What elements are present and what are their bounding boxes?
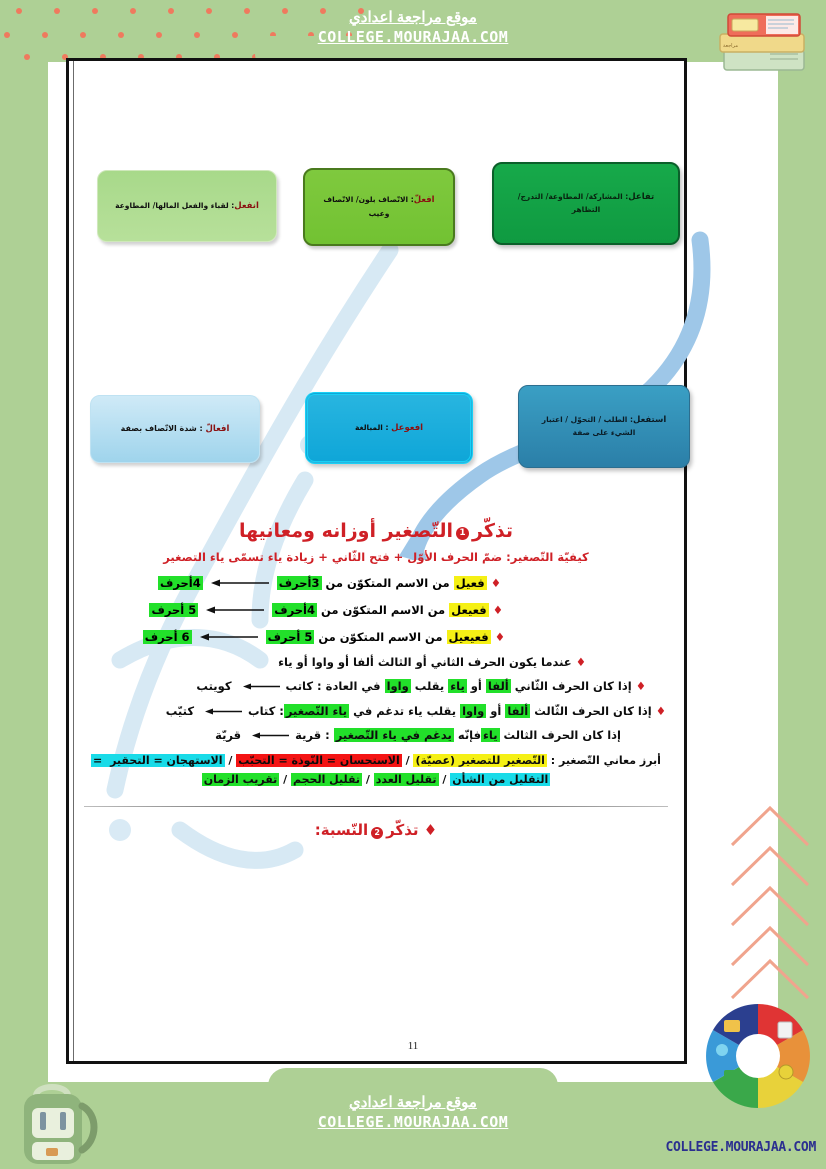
lesson-title-badge: 1 xyxy=(456,527,469,540)
next-title-prefix: تذكّر xyxy=(386,821,418,839)
weight-rule-source: ♦ فعيعل من الاسم المتكوّن من 4أحرف xyxy=(272,603,503,617)
weight-rule-source: ♦ فعيل من الاسم المتكوّن من 3أحرف xyxy=(277,576,501,590)
left-arrow-icon xyxy=(204,600,266,619)
scheme-pattern: افعوعل xyxy=(391,423,423,433)
scheme-pattern: انفعل xyxy=(234,201,259,211)
notes-list: ♦ عندما يكون الحرف الثاني أو الثالث ألفا… xyxy=(76,654,676,744)
dot xyxy=(4,32,10,38)
weight-rules-list: ♦ فعيل من الاسم المتكوّن من 3أحرف4أحرف♦ … xyxy=(76,573,676,646)
section-divider xyxy=(84,806,668,807)
dot xyxy=(80,32,86,38)
chevrons-decoration xyxy=(722,800,812,1000)
meaning-chip: التّصغير للتصغير (عصيّة) xyxy=(413,754,547,767)
scheme-box-ifaalla2: افعالّ : شدة الاتّصاف بصفة xyxy=(90,395,260,463)
footer-brand: موقع مراجعة اعدادي COLLEGE.MOURAJAA.COM xyxy=(253,1093,573,1131)
note-result: كويتب xyxy=(196,679,231,693)
footer-brand-url[interactable]: COLLEGE.MOURAJAA.COM xyxy=(253,1113,573,1131)
header-brand: موقع مراجعة اعدادي COLLEGE.MOURAJAA.COM xyxy=(253,8,573,46)
dot xyxy=(244,8,250,14)
scheme-pattern: افعالّ xyxy=(206,424,230,434)
left-arrow-icon xyxy=(198,627,260,646)
meanings-items: التّصغير للتصغير (عصيّة) / الاستحسان = ا… xyxy=(91,754,550,786)
meaning-chip: / xyxy=(402,754,414,767)
dot xyxy=(206,8,212,14)
lesson-subtitle-label: كيفيّة التّصغير: xyxy=(506,550,589,564)
scheme-meaning: : المبالغة xyxy=(355,423,391,432)
weight-rule-target: 6 أحرف xyxy=(143,630,192,644)
meaning-chip: الاستهجان = التحقير xyxy=(108,754,224,767)
scheme-meaning: : المشاركة/ المطاوعة/ التدرج/ التظاهر xyxy=(518,192,629,214)
weight-rule-source: ♦ فعيعيل من الاسم المتكوّن من 5 أحرف xyxy=(266,630,505,644)
meaning-chip: / xyxy=(279,773,291,786)
note-result: قريّة xyxy=(215,728,241,742)
scheme-box-istafaala: استفعل: الطلب / التحوّل / اعتبار الشيء ع… xyxy=(518,385,690,468)
next-title-main: النّسبة: xyxy=(315,821,368,839)
meanings-line: أبرز معاني التّصغير : التّصغير للتصغير (… xyxy=(76,751,676,790)
weight-rule-row: ♦ فعيل من الاسم المتكوّن من 3أحرف4أحرف xyxy=(76,573,676,592)
weight-rule-row: ♦ فعيعل من الاسم المتكوّن من 4أحرف5 أحرف xyxy=(76,600,676,619)
scheme-box-tafaaala: تفاعل: المشاركة/ المطاوعة/ التدرج/ التظا… xyxy=(492,162,680,245)
meaning-chip: تقريب الزمان xyxy=(202,773,280,786)
dot xyxy=(168,8,174,14)
dot xyxy=(24,54,30,60)
scheme-box-ifawaala: افعوعل : المبالغة xyxy=(305,392,473,464)
scheme-meaning: : الطلب / التحوّل / اعتبار الشيء على صفة xyxy=(542,415,636,437)
note-row: ♦ إذا كان الحرف الثّالث ألفا أو واوا يقل… xyxy=(76,703,676,720)
meaning-chip: / xyxy=(439,773,451,786)
scheme-pattern: استفعل xyxy=(633,415,666,425)
weight-rule-target: 4أحرف xyxy=(158,576,203,590)
dot xyxy=(130,8,136,14)
note-result: كتيّب xyxy=(166,704,194,718)
header-brand-url[interactable]: COLLEGE.MOURAJAA.COM xyxy=(253,28,573,46)
note-row: ♦ إذا كان الحرف الثّاني ألفا أو ياء يقلب… xyxy=(76,678,676,695)
meaning-chip: / xyxy=(362,773,374,786)
dot xyxy=(42,32,48,38)
lesson-subtitle: كيفيّة التّصغير: ضمّ الحرف الأوّل + فتح … xyxy=(76,550,676,564)
dot xyxy=(232,32,238,38)
scheme-meaning: : الاتّصاف بلون/ الاتّصاف وعيب xyxy=(323,195,413,217)
scheme-pattern: افعلّ xyxy=(414,195,435,205)
page-number: 11 xyxy=(0,1040,826,1052)
left-arrow-icon xyxy=(209,573,271,592)
meaning-chip: تقليل العدد xyxy=(374,773,439,786)
lesson-title-main: التّصغير أوزانه ومعانيها xyxy=(239,520,453,542)
meaning-chip: = xyxy=(91,754,108,767)
footer-brand-name: موقع مراجعة اعدادي xyxy=(253,1093,573,1111)
next-title-badge: 2 xyxy=(371,827,383,839)
dot xyxy=(156,32,162,38)
scheme-box-ifaalla: افعلّ: الاتّصاف بلون/ الاتّصاف وعيب xyxy=(303,168,455,246)
meaning-chip: / xyxy=(225,754,237,767)
meaning-chip: التقليل من الشأن xyxy=(450,773,550,786)
lesson-title: تذكّر1التّصغير أوزانه ومعانيها xyxy=(76,520,676,542)
dot xyxy=(16,8,22,14)
note-row: ♦ عندما يكون الحرف الثاني أو الثالث ألفا… xyxy=(76,654,676,671)
meanings-label: أبرز معاني التّصغير : xyxy=(551,754,661,767)
dot xyxy=(194,32,200,38)
dot xyxy=(54,8,60,14)
footer-watermark-url: COLLEGE.MOURAJAA.COM xyxy=(665,1140,816,1155)
scheme-box-infaala: انفعل: لقباء والفعل المالها/ المطاوعة xyxy=(97,170,277,242)
education-wheel-icon xyxy=(702,1000,814,1112)
backpack-icon xyxy=(6,1078,118,1168)
header-brand-name: موقع مراجعة اعدادي xyxy=(253,8,573,26)
note-row: إذا كان الحرف الثالث ياءفإنّه يدغم في يا… xyxy=(76,727,676,744)
lesson-title-prefix: تذكّر xyxy=(472,520,513,542)
weight-rule-target: 5 أحرف xyxy=(149,603,198,617)
lesson-subtitle-body: ضمّ الحرف الأوّل + فتح الثّاني + زيادة ي… xyxy=(163,550,502,564)
books-stack-icon: مراجعة xyxy=(708,2,818,88)
scheme-pattern: تفاعل xyxy=(628,192,654,202)
meaning-chip: الاستحسان = النّوذة = التحبّب xyxy=(236,754,402,767)
scheme-meaning: : شدة الاتّصاف بصفة xyxy=(121,424,206,433)
meaning-chip: تقليل الحجم xyxy=(291,773,362,786)
next-lesson-title: ♦ تذكّر2النّسبة: xyxy=(76,821,676,839)
scheme-meaning: : لقباء والفعل المالها/ المطاوعة xyxy=(115,201,234,210)
svg-text:مراجعة: مراجعة xyxy=(723,43,738,49)
lesson-content: تذكّر1التّصغير أوزانه ومعانيها كيفيّة ال… xyxy=(76,520,676,839)
dot xyxy=(92,8,98,14)
dot xyxy=(118,32,124,38)
weight-rule-row: ♦ فعيعيل من الاسم المتكوّن من 5 أحرف6 أح… xyxy=(76,627,676,646)
